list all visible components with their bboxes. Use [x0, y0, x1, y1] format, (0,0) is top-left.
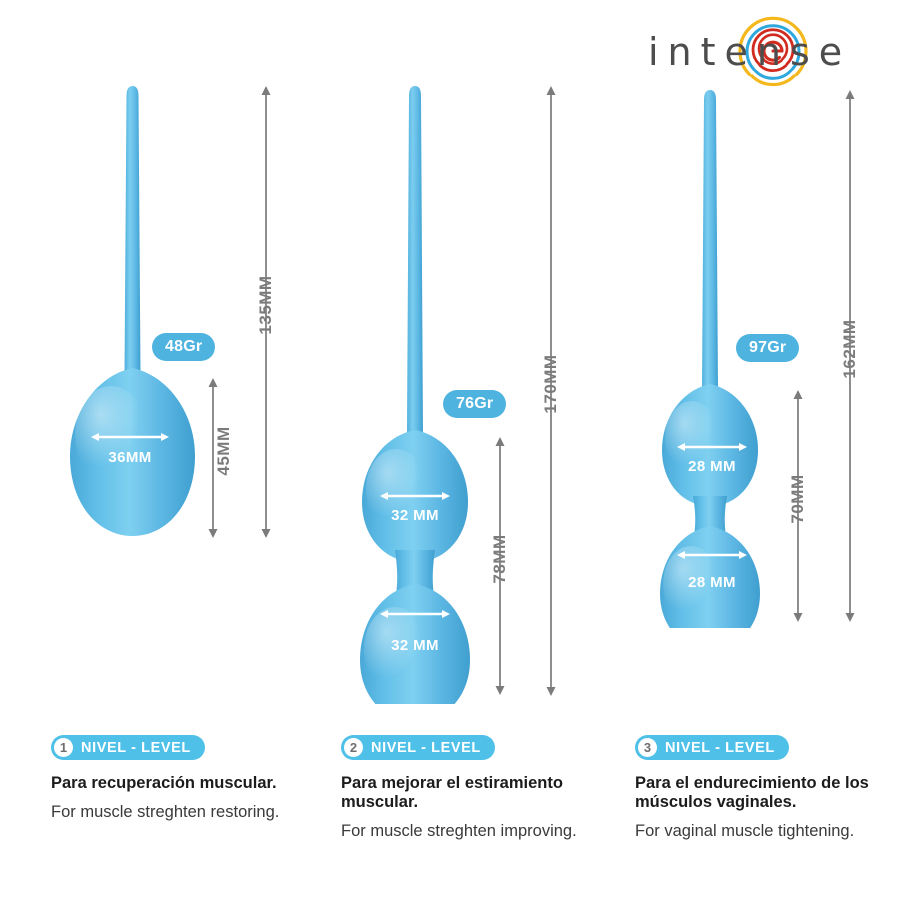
width-label-level-3-a: 28 MM: [676, 458, 748, 475]
weight-badge-level-2: 76Gr: [443, 390, 506, 418]
level-label-1: NIVEL - LEVEL: [81, 740, 191, 756]
width-label-level-3-b: 28 MM: [676, 574, 748, 591]
brand-logo: intense: [648, 14, 898, 88]
dimension-label-170mm: 170MM: [541, 348, 561, 420]
dimension-label-78mm: 78MM: [490, 531, 510, 587]
dimension-ball-length-level-3: 70MM: [790, 390, 806, 622]
width-label-level-1-a: 36MM: [90, 449, 170, 466]
level-label-3: NIVEL - LEVEL: [665, 740, 775, 756]
level-badge-1[interactable]: 1 NIVEL - LEVEL: [51, 735, 205, 760]
dimension-label-162mm: 162MM: [840, 313, 860, 385]
width-label-level-2-b: 32 MM: [379, 637, 451, 654]
infographic-canvas: intense: [0, 0, 900, 900]
caption-level-3: 3 NIVEL - LEVEL Para el endurecimiento d…: [635, 735, 895, 842]
caption-spanish-2: Para mejorar el estiramiento muscular.: [341, 774, 611, 812]
width-arrow-level-1: [90, 430, 170, 444]
weight-badge-level-3: 97Gr: [736, 334, 799, 362]
level-number-3: 3: [638, 738, 657, 757]
dimension-ball-length-level-1: 45MM: [205, 378, 221, 538]
weight-badge-level-1: 48Gr: [152, 333, 215, 361]
width-arrow-level-3-a: [676, 440, 748, 454]
width-arrow-level-3-b: [676, 548, 748, 562]
dimension-label-70mm: 70MM: [788, 471, 808, 527]
caption-level-2: 2 NIVEL - LEVEL Para mejorar el estirami…: [341, 735, 611, 842]
dimension-ball-length-level-2: 78MM: [492, 437, 508, 695]
level-number-1: 1: [54, 738, 73, 757]
width-arrow-level-2-b: [379, 607, 451, 621]
brand-wordmark: intense: [648, 30, 898, 74]
dimension-total-length-level-2: 170MM: [543, 86, 559, 696]
caption-english-1: For muscle streghten restoring.: [51, 802, 321, 823]
toy-illustration-level-1: [45, 84, 225, 544]
caption-spanish-3: Para el endurecimiento de los músculos v…: [635, 774, 895, 812]
dimension-total-length-level-1: 135MM: [258, 86, 274, 538]
dimension-total-length-level-3: 162MM: [842, 90, 858, 622]
level-label-2: NIVEL - LEVEL: [371, 740, 481, 756]
caption-english-3: For vaginal muscle tightening.: [635, 821, 895, 842]
caption-spanish-1: Para recuperación muscular.: [51, 774, 321, 793]
width-label-level-2-a: 32 MM: [379, 507, 451, 524]
dimension-label-45mm: 45MM: [214, 421, 234, 481]
dimension-label-135mm: 135MM: [256, 269, 276, 341]
caption-english-2: For muscle streghten improving.: [341, 821, 611, 842]
level-number-2: 2: [344, 738, 363, 757]
level-badge-3[interactable]: 3 NIVEL - LEVEL: [635, 735, 789, 760]
caption-level-1: 1 NIVEL - LEVEL Para recuperación muscul…: [51, 735, 321, 823]
width-arrow-level-2-a: [379, 489, 451, 503]
level-badge-2[interactable]: 2 NIVEL - LEVEL: [341, 735, 495, 760]
